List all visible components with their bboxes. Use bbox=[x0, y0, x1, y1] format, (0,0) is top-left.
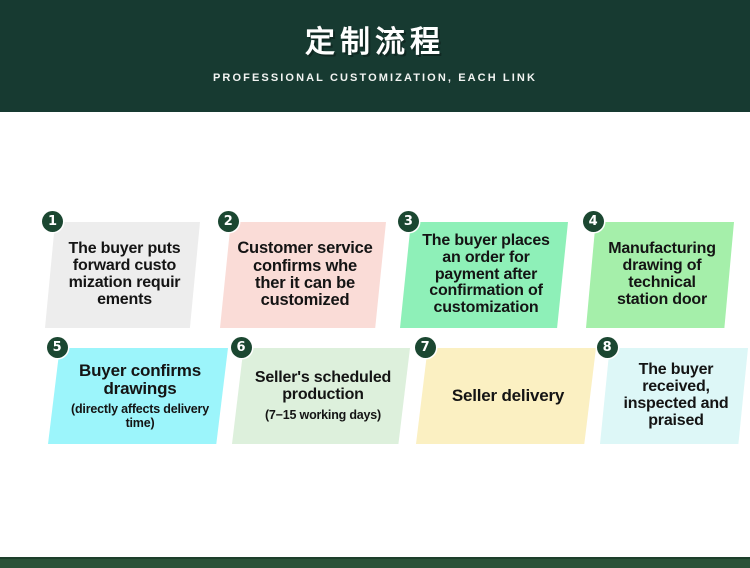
flow-step-text: Customer service confirms whe ther it ca… bbox=[220, 222, 386, 328]
flow-step-5: Buyer confirms drawings(directly affects… bbox=[48, 348, 228, 444]
page-subtitle: PROFESSIONAL CUSTOMIZATION, EACH LINK bbox=[213, 72, 537, 84]
flow-step-label: Buyer confirms drawings bbox=[64, 362, 216, 398]
flow-step-label: Seller's scheduled production bbox=[248, 370, 398, 404]
flow-step-sublabel: (directly affects delivery time) bbox=[64, 402, 216, 431]
flow-step-number-badge-5: 5 bbox=[47, 337, 68, 358]
flow-step-label: The buyer places an order for payment af… bbox=[416, 233, 556, 318]
bottom-accent-bar bbox=[0, 557, 750, 568]
page-title: 定制流程 bbox=[305, 28, 445, 58]
flow-step-4: Manufacturing drawing of technical stati… bbox=[586, 222, 734, 328]
flow-step-number-badge-8: 8 bbox=[597, 337, 618, 358]
flow-step-label: Customer service confirms whe ther it ca… bbox=[236, 240, 374, 310]
flow-step-number-badge-4: 4 bbox=[583, 211, 604, 232]
flow-step-label: The buyer received, inspected and praise… bbox=[616, 362, 736, 430]
flow-step-text: The buyer puts forward custo mization re… bbox=[45, 222, 200, 328]
flow-step-text: The buyer places an order for payment af… bbox=[400, 222, 568, 328]
flow-step-number-badge-1: 1 bbox=[42, 211, 63, 232]
flow-step-7: Seller delivery bbox=[416, 348, 596, 444]
flow-step-text: Seller delivery bbox=[416, 348, 596, 444]
flow-step-label: Seller delivery bbox=[452, 387, 564, 405]
flow-step-number-badge-6: 6 bbox=[231, 337, 252, 358]
flow-step-8: The buyer received, inspected and praise… bbox=[600, 348, 748, 444]
flow-diagram-panel: The buyer puts forward custo mization re… bbox=[0, 112, 750, 556]
flow-step-text: Seller's scheduled production(7−15 worki… bbox=[232, 348, 410, 444]
flow-step-text: Buyer confirms drawings(directly affects… bbox=[48, 348, 228, 444]
flow-step-number-badge-7: 7 bbox=[415, 337, 436, 358]
flow-step-2: Customer service confirms whe ther it ca… bbox=[220, 222, 386, 328]
flow-step-6: Seller's scheduled production(7−15 worki… bbox=[232, 348, 410, 444]
customization-flow-infographic: 定制流程 PROFESSIONAL CUSTOMIZATION, EACH LI… bbox=[0, 0, 750, 568]
flow-step-text: Manufacturing drawing of technical stati… bbox=[586, 222, 734, 328]
flow-step-number-badge-3: 3 bbox=[398, 211, 419, 232]
flow-step-sublabel: (7−15 working days) bbox=[265, 408, 381, 422]
flow-step-3: The buyer places an order for payment af… bbox=[400, 222, 568, 328]
flow-step-label: Manufacturing drawing of technical stati… bbox=[602, 241, 722, 309]
header-banner: 定制流程 PROFESSIONAL CUSTOMIZATION, EACH LI… bbox=[0, 0, 750, 112]
flow-step-text: The buyer received, inspected and praise… bbox=[600, 348, 748, 444]
flow-step-number-badge-2: 2 bbox=[218, 211, 239, 232]
flow-step-label: The buyer puts forward custo mization re… bbox=[61, 241, 188, 309]
flow-step-1: The buyer puts forward custo mization re… bbox=[45, 222, 200, 328]
